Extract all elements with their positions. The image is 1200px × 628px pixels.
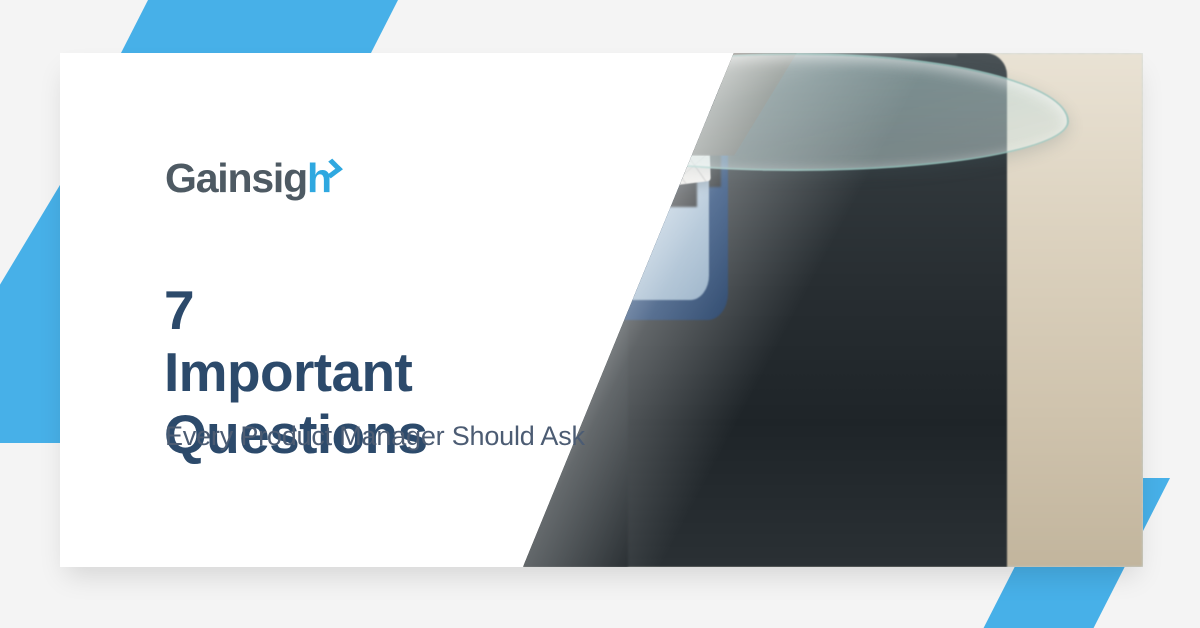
hero-photo <box>523 53 1143 567</box>
photo-man-light-blazer-arm <box>523 53 690 142</box>
gainsight-logo: Gainsigh <box>165 158 346 199</box>
photo-man-light-blazer-legs <box>523 53 697 207</box>
photo-man-light-blazer-hand <box>523 53 591 108</box>
photo-man-navy-suit-lapel <box>523 53 579 187</box>
logo-text-dark: Gainsig <box>165 155 307 201</box>
photo-edge-fade <box>523 53 1143 567</box>
page-subtitle: Every Product Manager Should Ask <box>165 421 585 452</box>
photo-man-navy-suit-shirt <box>523 53 588 209</box>
content-card: Gainsigh 7 Important Questions Every Pro… <box>60 53 1143 567</box>
photo-man-light-blazer-head <box>523 53 594 128</box>
photo-shoe-right <box>523 53 586 91</box>
photo-shoe-left <box>523 53 594 99</box>
photo-man-navy-suit-hair <box>523 53 607 97</box>
photo-man-navy-suit-hands <box>523 53 604 110</box>
photo-houndstooth-cushion <box>523 53 628 171</box>
photo-laptop-base <box>523 53 704 92</box>
photo-wooden-bowl <box>523 53 661 123</box>
photo-man-navy-suit-head <box>523 53 601 133</box>
photo-man-light-blazer-hair <box>523 53 602 94</box>
photo-window-mullion <box>523 53 539 269</box>
